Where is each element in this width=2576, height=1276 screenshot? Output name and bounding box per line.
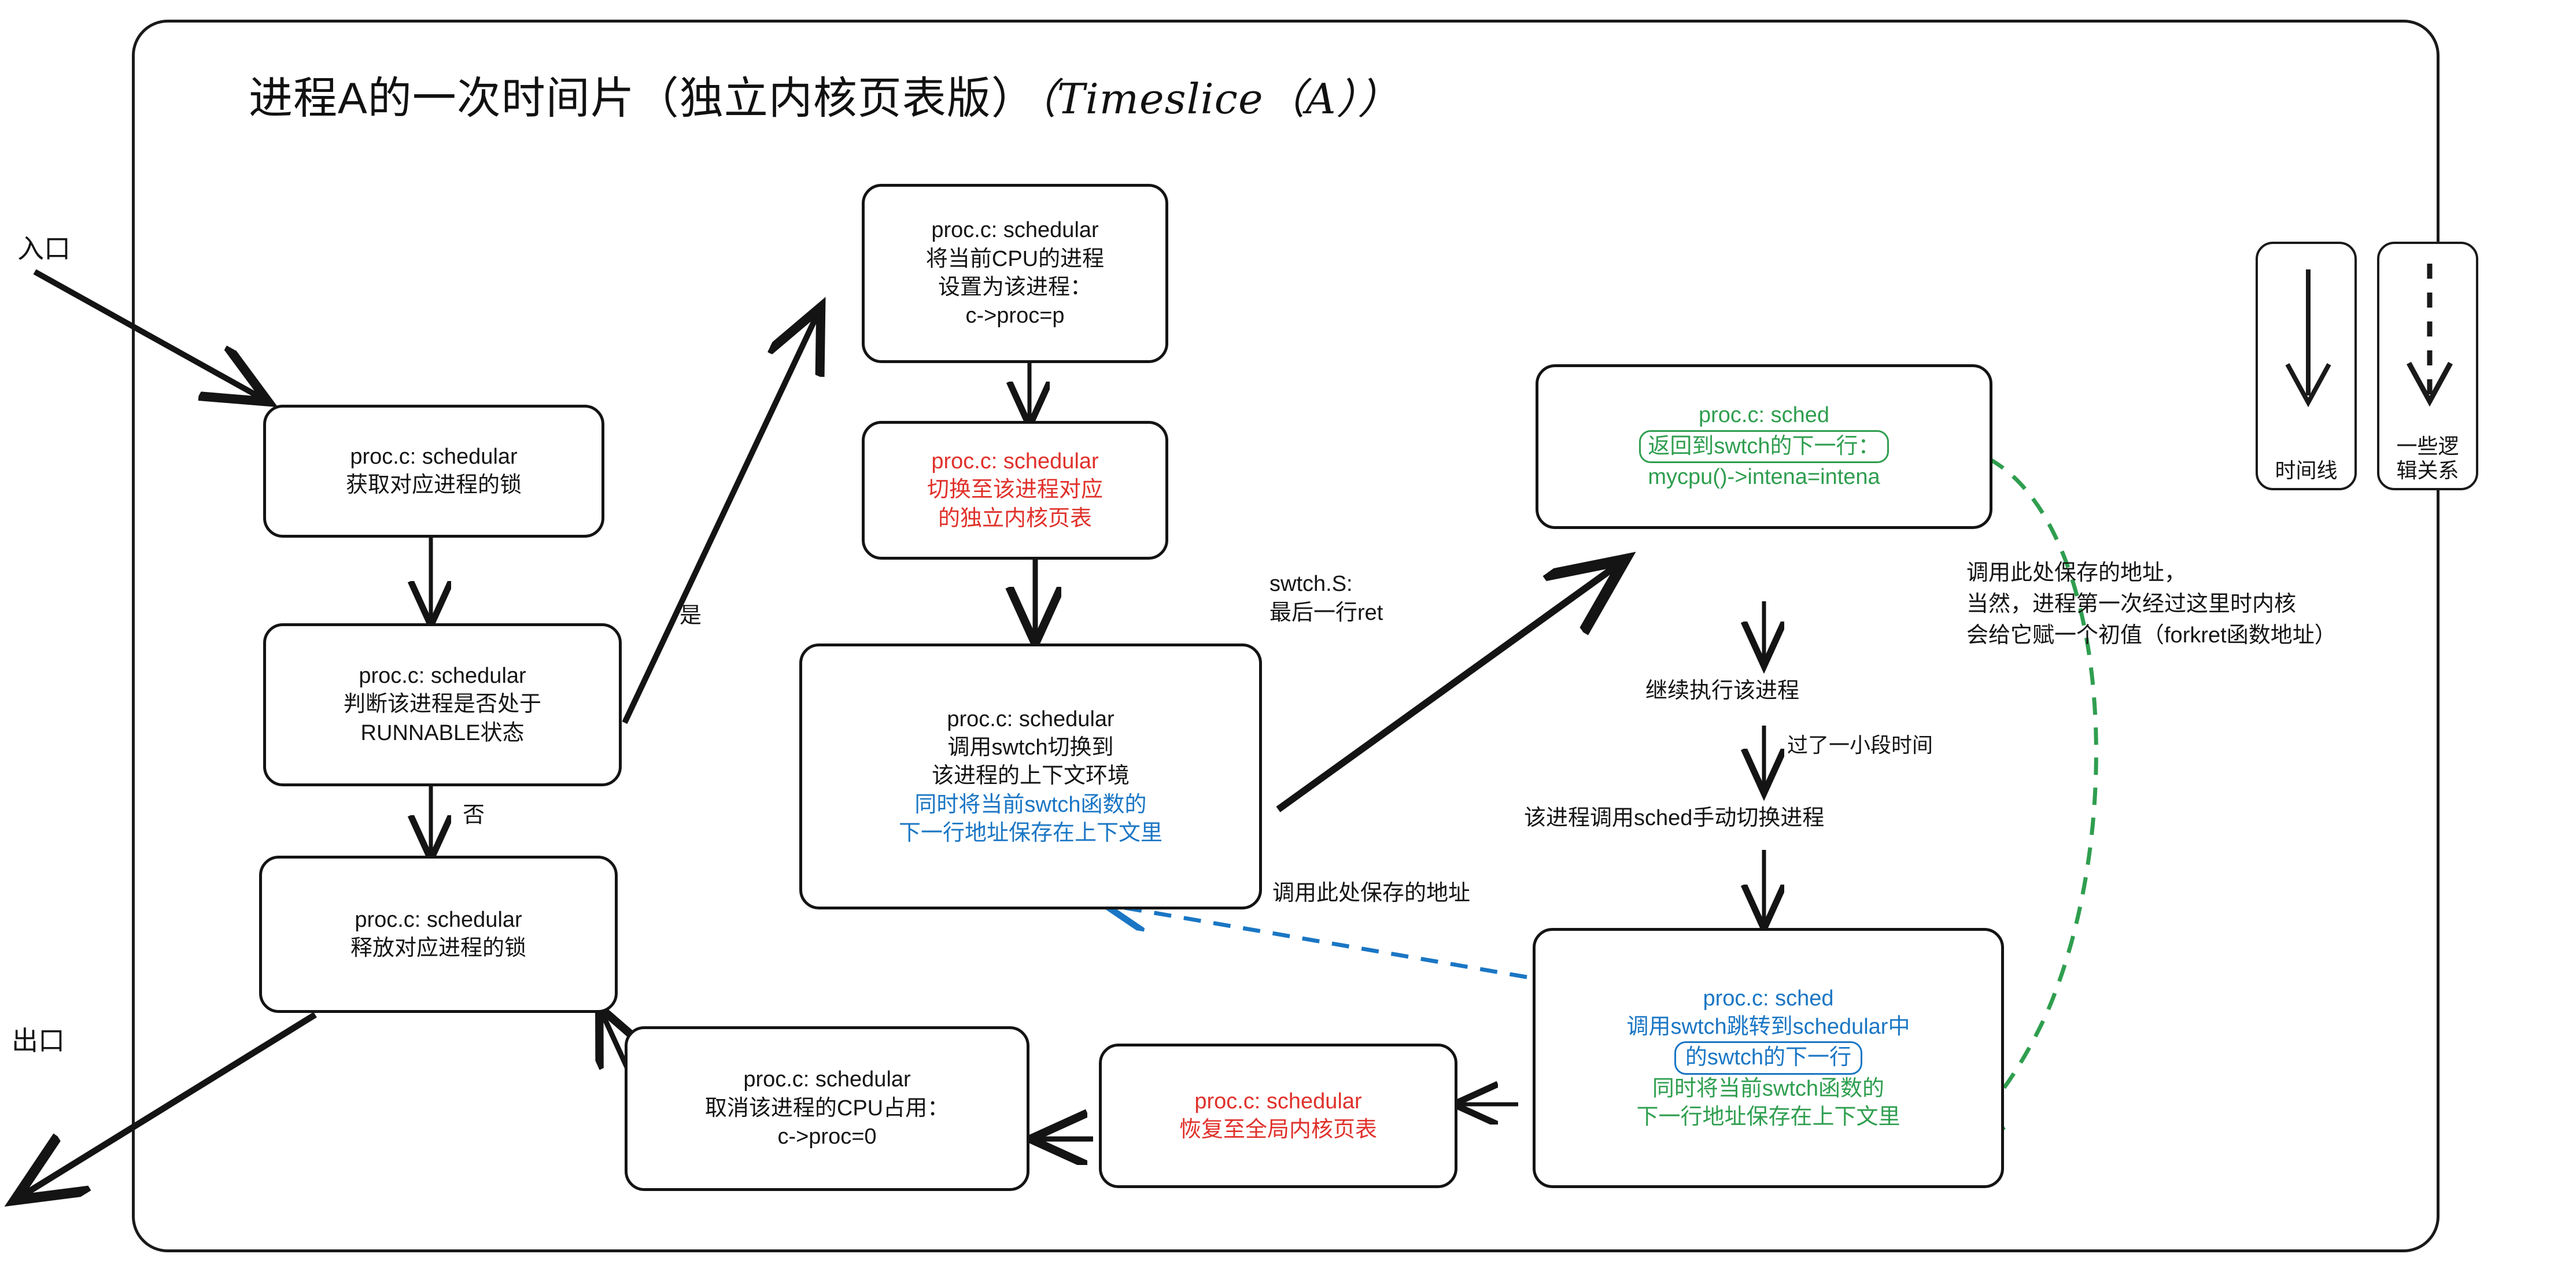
legend-logic-label-line1: 一些逻 <box>2396 434 2459 458</box>
node-sched-jump[interactable]: proc.c: sched 调用swtch跳转到schedular中 的swtc… <box>1533 928 2004 1188</box>
annotation-green-note: 调用此处保存的地址， 当然，进程第一次经过这里时内核 会给它赋一个初值（fork… <box>1966 558 2337 652</box>
legend-logic-label-line2: 辑关系 <box>2396 458 2459 482</box>
annotation-green-note-line1: 调用此处保存的地址， <box>1966 558 2337 589</box>
label-call-sched: 该进程调用sched手动切换进程 <box>1524 804 1824 833</box>
entry-label: 入口 <box>17 231 71 267</box>
node-check-runnable[interactable]: proc.c: schedular 判断该进程是否处于 RUNNABLE状态 <box>263 623 622 786</box>
node-switch-kpgtbl[interactable]: proc.c: schedular 切换至该进程对应 的独立内核页表 <box>862 421 1168 560</box>
edge-label-swtch-ret: swtch.S: 最后一行ret <box>1269 569 1383 627</box>
node-restore-line2: 恢复至全局内核页表 <box>1179 1116 1377 1144</box>
edge-label-swtch-ret-line2: 最后一行ret <box>1269 598 1383 627</box>
exit-label: 出口 <box>12 1023 65 1059</box>
label-continue-exec: 继续执行该进程 <box>1645 676 1799 705</box>
node-sched-return-line1: proc.c: sched <box>1699 401 1829 430</box>
node-sched-return-line3: mycpu()->intena=intena <box>1648 463 1880 491</box>
node-set-cpu-proc-line3: 设置为该进程： <box>938 273 1092 302</box>
edge-label-swtch-ret-line1: swtch.S: <box>1269 569 1383 598</box>
node-sched-jump-line2: 调用swtch跳转到schedular中 <box>1627 1013 1910 1041</box>
node-switch-kpgtbl-line1: proc.c: schedular <box>931 447 1098 476</box>
node-call-swtch-line3: 该进程的上下文环境 <box>932 762 1130 790</box>
label-after-a-while: 过了一小段时间 <box>1787 731 1933 759</box>
node-call-swtch-line4: 同时将当前swtch函数的 <box>914 791 1146 819</box>
dashed-down-arrow-icon <box>2395 260 2464 410</box>
node-acquire-lock-line2: 获取对应进程的锁 <box>346 471 522 500</box>
legend-timeline-label: 时间线 <box>2275 458 2337 482</box>
node-release-lock-line1: proc.c: schedular <box>355 906 522 934</box>
node-clear-cpu-proc[interactable]: proc.c: schedular 取消该进程的CPU占用： c->proc=0 <box>625 1026 1029 1191</box>
page-title: 进程A的一次时间片（独立内核页表版）（Timeslice（A）） <box>249 62 1400 126</box>
node-set-cpu-proc-line2: 将当前CPU的进程 <box>926 245 1104 273</box>
node-release-lock-line2: 释放对应进程的锁 <box>350 934 526 963</box>
node-sched-return-line2: 返回到swtch的下一行： <box>1639 430 1888 463</box>
node-acquire-lock[interactable]: proc.c: schedular 获取对应进程的锁 <box>263 405 604 538</box>
node-call-swtch-line5: 下一行地址保存在上下文里 <box>899 819 1162 848</box>
node-clear-cpu-proc-line3: c->proc=0 <box>777 1123 876 1151</box>
page-title-cn: 进程A的一次时间片（独立内核页表版） <box>249 74 1036 123</box>
node-sched-jump-line5: 下一行地址保存在上下文里 <box>1636 1103 1900 1131</box>
node-check-runnable-line2: 判断该进程是否处于 <box>344 690 541 719</box>
node-set-cpu-proc[interactable]: proc.c: schedular 将当前CPU的进程 设置为该进程： c->p… <box>862 184 1168 363</box>
node-sched-jump-line4: 同时将当前swtch函数的 <box>1652 1075 1884 1103</box>
node-switch-kpgtbl-line3: 的独立内核页表 <box>938 505 1092 533</box>
legend-timeline: 时间线 <box>2256 242 2357 490</box>
annotation-green-note-line3: 会给它赋一个初值（forkret函数地址） <box>1966 620 2337 652</box>
legend-logic: 一些逻 辑关系 <box>2377 242 2478 490</box>
node-switch-kpgtbl-line2: 切换至该进程对应 <box>927 476 1103 504</box>
edge-label-yes: 是 <box>680 601 702 630</box>
node-sched-jump-line3: 的swtch的下一行 <box>1674 1041 1862 1074</box>
node-acquire-lock-line1: proc.c: schedular <box>350 443 517 471</box>
node-clear-cpu-proc-line1: proc.c: schedular <box>743 1066 910 1094</box>
solid-down-arrow-icon <box>2274 266 2343 416</box>
node-restore-global-kpgtbl[interactable]: proc.c: schedular 恢复至全局内核页表 <box>1099 1044 1457 1188</box>
node-sched-return[interactable]: proc.c: sched 返回到swtch的下一行： mycpu()->int… <box>1536 364 1992 529</box>
page-title-en: （Timeslice（A）） <box>1036 75 1400 123</box>
edge-label-no: 否 <box>463 801 485 830</box>
label-blue-saved-addr: 调用此处保存的地址 <box>1272 879 1470 908</box>
node-call-swtch[interactable]: proc.c: schedular 调用swtch切换到 该进程的上下文环境 同… <box>799 643 1262 909</box>
node-clear-cpu-proc-line2: 取消该进程的CPU占用： <box>705 1094 949 1123</box>
node-set-cpu-proc-line4: c->proc=p <box>965 302 1064 330</box>
node-call-swtch-line2: 调用swtch切换到 <box>947 734 1113 762</box>
node-release-lock[interactable]: proc.c: schedular 释放对应进程的锁 <box>259 856 618 1013</box>
node-set-cpu-proc-line1: proc.c: schedular <box>931 216 1098 245</box>
node-restore-line1: proc.c: schedular <box>1194 1088 1361 1116</box>
diagram-canvas: 进程A的一次时间片（独立内核页表版）（Timeslice（A）） <box>0 0 2576 1276</box>
node-call-swtch-line1: proc.c: schedular <box>947 705 1114 734</box>
node-check-runnable-line3: RUNNABLE状态 <box>361 719 525 748</box>
node-check-runnable-line1: proc.c: schedular <box>359 662 526 690</box>
node-sched-jump-line1: proc.c: sched <box>1703 985 1834 1013</box>
annotation-green-note-line2: 当然，进程第一次经过这里时内核 <box>1966 589 2337 620</box>
